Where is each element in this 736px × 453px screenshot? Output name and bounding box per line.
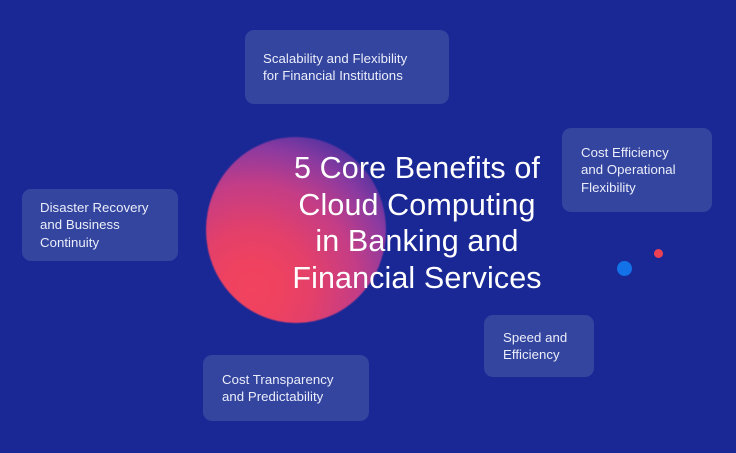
callout-disaster-recovery[interactable]: Disaster Recovery and Business Continuit… (22, 189, 178, 261)
callout-cost-efficiency-label: Cost Efficiency and Operational Flexibil… (581, 144, 693, 197)
callout-speed-and-efficiency-label: Speed and Efficiency (503, 329, 575, 364)
slide-canvas: 5 Core Benefits of Cloud Computing in Ba… (0, 0, 736, 453)
callout-cost-transparency-label: Cost Transparency and Predictability (222, 371, 350, 406)
page-title: 5 Core Benefits of Cloud Computing in Ba… (228, 150, 606, 296)
callout-scalability[interactable]: Scalability and Flexibility for Financia… (245, 30, 449, 104)
callout-speed-and-efficiency[interactable]: Speed and Efficiency (484, 315, 594, 377)
callout-scalability-label: Scalability and Flexibility for Financia… (263, 50, 431, 85)
decorative-blue-dot-icon (617, 261, 632, 276)
callout-cost-transparency[interactable]: Cost Transparency and Predictability (203, 355, 369, 421)
decorative-red-dot-icon (654, 249, 663, 258)
callout-disaster-recovery-label: Disaster Recovery and Business Continuit… (40, 199, 160, 252)
callout-cost-efficiency[interactable]: Cost Efficiency and Operational Flexibil… (562, 128, 712, 212)
